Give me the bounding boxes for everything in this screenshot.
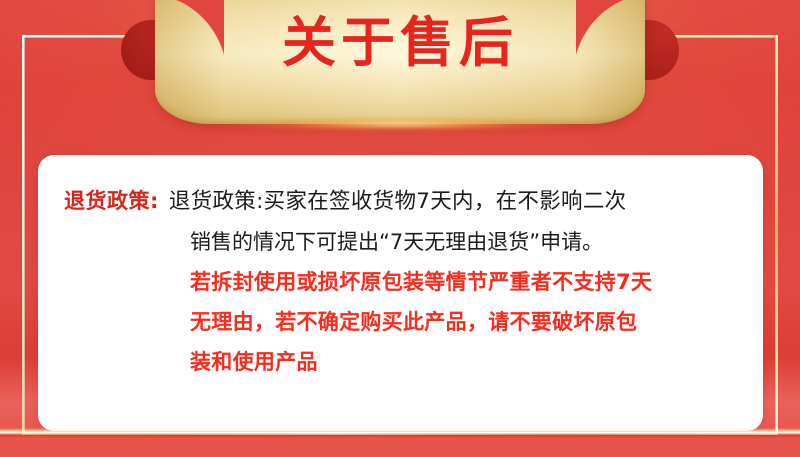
title-ribbon: 关于售后 [155,0,645,126]
policy-row: 退货政策:退货政策:买家在签收货物7天内，在不影响二次 [64,181,741,222]
policy-row: 销售的情况下可提出“7天无理由退货”申请。 [64,222,741,262]
policy-row: 装和使用产品 [64,342,741,382]
policy-label: 退货政策: [64,189,159,213]
policy-line-text: 无理由，若不确定购买此产品，请不要破坏原包 [190,310,637,334]
policy-row: 若拆封使用或损坏原包装等情节严重者不支持7天 [64,262,741,302]
page-title: 关于售后 [155,16,645,70]
policy-line-text: 销售的情况下可提出“7天无理由退货”申请。 [190,230,603,254]
policy-card: 退货政策:退货政策:买家在签收货物7天内，在不影响二次 销售的情况下可提出“7天… [38,155,763,431]
policy-row: 无理由，若不确定购买此产品，请不要破坏原包 [64,302,741,342]
after-sales-poster: 关于售后 退货政策:退货政策:买家在签收货物7天内，在不影响二次 销售的情况下可… [0,0,800,457]
policy-line-text: 若拆封使用或损坏原包装等情节严重者不支持7天 [190,270,652,294]
policy-line-text: 退货政策:买家在签收货物7天内，在不影响二次 [169,189,627,214]
return-policy-block: 退货政策:退货政策:买家在签收货物7天内，在不影响二次 销售的情况下可提出“7天… [64,181,741,382]
policy-line-text: 装和使用产品 [190,350,318,374]
